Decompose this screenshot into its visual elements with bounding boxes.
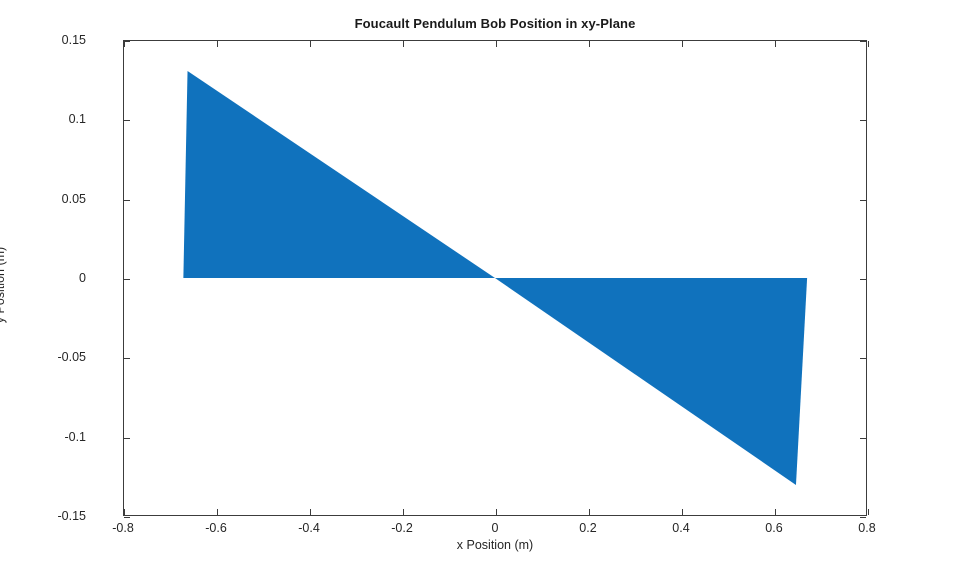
y-tick-label: 0 (79, 271, 86, 285)
y-tick-mark (124, 120, 130, 121)
x-tick-mark (589, 509, 590, 515)
y-tick-label: 0.1 (69, 112, 86, 126)
trajectory-lobe-lower-right (495, 278, 807, 485)
x-tick-mark-top (403, 41, 404, 47)
x-tick-mark (310, 509, 311, 515)
trajectory-svg (124, 41, 866, 515)
chart-title: Foucault Pendulum Bob Position in xy-Pla… (123, 16, 867, 31)
y-tick-mark (124, 279, 130, 280)
x-tick-label: -0.6 (205, 521, 227, 535)
x-tick-mark-top (682, 41, 683, 47)
y-tick-mark (124, 358, 130, 359)
y-tick-mark-right (860, 200, 866, 201)
y-tick-mark (124, 200, 130, 201)
y-tick-label: -0.05 (58, 350, 87, 364)
x-tick-mark-top (775, 41, 776, 47)
x-tick-label: -0.4 (298, 521, 320, 535)
x-tick-mark (217, 509, 218, 515)
plot-area (124, 41, 866, 515)
figure-canvas: Foucault Pendulum Bob Position in xy-Pla… (0, 0, 959, 577)
y-tick-mark (124, 517, 130, 518)
x-tick-label: -0.2 (391, 521, 413, 535)
x-tick-label: -0.8 (112, 521, 134, 535)
y-tick-mark-right (860, 120, 866, 121)
x-axis-label: x Position (m) (123, 538, 867, 552)
y-tick-mark-right (860, 41, 866, 42)
y-tick-mark-right (860, 438, 866, 439)
x-tick-mark (496, 509, 497, 515)
y-tick-label: 0.05 (62, 192, 86, 206)
x-tick-label: 0.4 (672, 521, 689, 535)
x-tick-mark-top (496, 41, 497, 47)
x-tick-mark (775, 509, 776, 515)
x-tick-label: 0.2 (579, 521, 596, 535)
y-tick-label: -0.15 (58, 509, 87, 523)
x-tick-mark (682, 509, 683, 515)
x-tick-mark-top (868, 41, 869, 47)
y-tick-label: 0.15 (62, 33, 86, 47)
y-tick-mark-right (860, 358, 866, 359)
y-tick-mark (124, 438, 130, 439)
y-axis-label: y Position (m) (0, 195, 7, 375)
x-tick-label: 0.6 (765, 521, 782, 535)
plot-axes (123, 40, 867, 516)
x-tick-mark-top (310, 41, 311, 47)
y-tick-mark (124, 41, 130, 42)
x-tick-mark (868, 509, 869, 515)
x-tick-mark-top (589, 41, 590, 47)
trajectory-lobe-upper-left (183, 71, 495, 278)
x-tick-mark-top (217, 41, 218, 47)
y-tick-mark-right (860, 517, 866, 518)
x-tick-label: 0.8 (858, 521, 875, 535)
x-tick-mark (124, 509, 125, 515)
x-tick-label: 0 (492, 521, 499, 535)
y-tick-mark-right (860, 279, 866, 280)
y-tick-label: -0.1 (64, 430, 86, 444)
x-tick-mark (403, 509, 404, 515)
